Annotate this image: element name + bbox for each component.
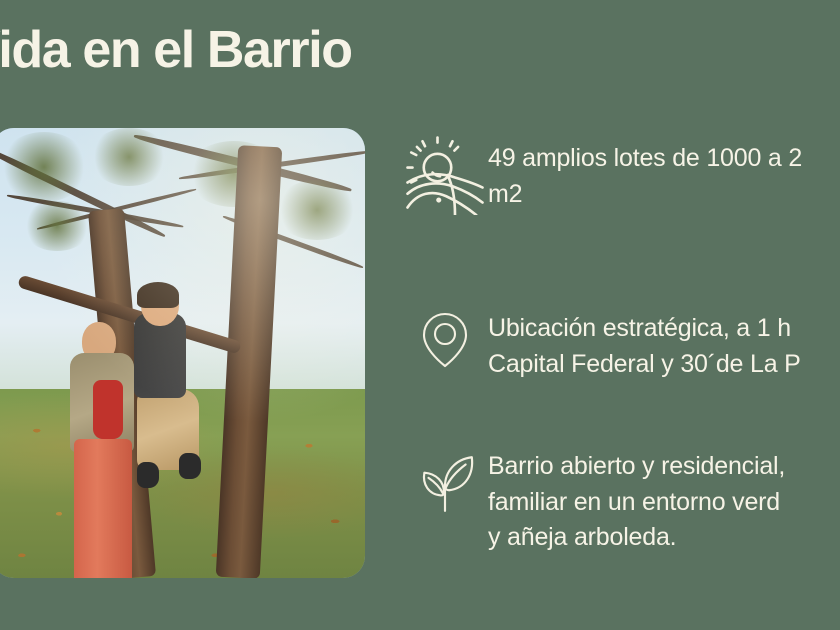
photo-child-shoe-right	[179, 453, 201, 479]
photo-child-hair	[137, 282, 179, 308]
feature-text-neighborhood: Barrio abierto y residencial, familiar e…	[488, 433, 785, 556]
photo-woman-shirt-graphic	[93, 380, 123, 439]
feature-text-lots: 49 amplios lotes de 1000 a 2 m2	[488, 132, 802, 212]
photo-woman-legs	[74, 439, 132, 579]
photo-canopy	[0, 128, 365, 344]
feature-item-location: Ubicación estratégica, a 1 h Capital Fed…	[402, 285, 801, 393]
feature-text-location: Ubicación estratégica, a 1 h Capital Fed…	[488, 285, 801, 382]
promo-slide: Vida en el Barrio	[0, 0, 840, 630]
feature-item-neighborhood: Barrio abierto y residencial, familiar e…	[402, 433, 785, 556]
family-in-tree-photo	[0, 128, 365, 578]
feature-item-lots: 49 amplios lotes de 1000 a 2 m2	[402, 132, 802, 218]
page-title: Vida en el Barrio	[0, 22, 606, 78]
photo-child-shoe-left	[137, 462, 159, 488]
leaf-sprout-icon	[402, 433, 488, 535]
sunrise-over-fields-icon	[402, 132, 488, 218]
feature-list: 49 amplios lotes de 1000 a 2 m2 Ubicació…	[402, 128, 840, 630]
photo-card	[0, 128, 365, 578]
map-pin-icon	[402, 285, 488, 393]
